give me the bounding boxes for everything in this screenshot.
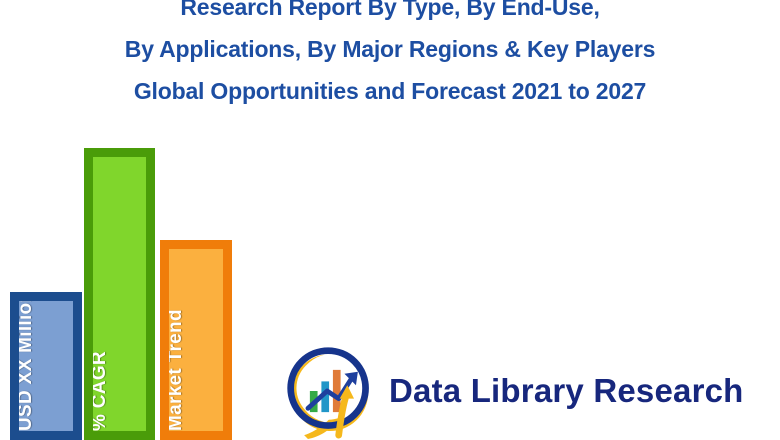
report-cover-banner: Research Report By Type, By End-Use, By … (0, 0, 780, 440)
logo-text: Data Library Research (389, 372, 744, 410)
bar-fill-orange: Market Trend (169, 249, 223, 431)
bar-label-market-trend: Market Trend (165, 309, 187, 431)
title-line-3: Global Opportunities and Forecast 2021 t… (0, 70, 780, 112)
bar-usd-xx-million: USD XX Million (10, 292, 82, 440)
circle-bar-chart-arrow-icon (283, 343, 379, 439)
bar-label-usd-xx-million: USD XX Million (15, 292, 37, 431)
logo: Data Library Research (283, 343, 723, 439)
page-title: Research Report By Type, By End-Use, By … (0, 0, 780, 112)
bar-fill-blue: USD XX Million (19, 301, 73, 431)
bar-market-trend: Market Trend (160, 240, 232, 440)
bar-label-percent-cagr: % CAGR (89, 351, 111, 431)
title-line-2: By Applications, By Major Regions & Key … (0, 28, 780, 70)
title-line-1: Research Report By Type, By End-Use, (0, 0, 780, 28)
bar-percent-cagr: % CAGR (84, 148, 155, 440)
bar-chart: USD XX Million % CAGR Market Trend (0, 140, 250, 440)
bar-fill-green: % CAGR (93, 157, 146, 431)
